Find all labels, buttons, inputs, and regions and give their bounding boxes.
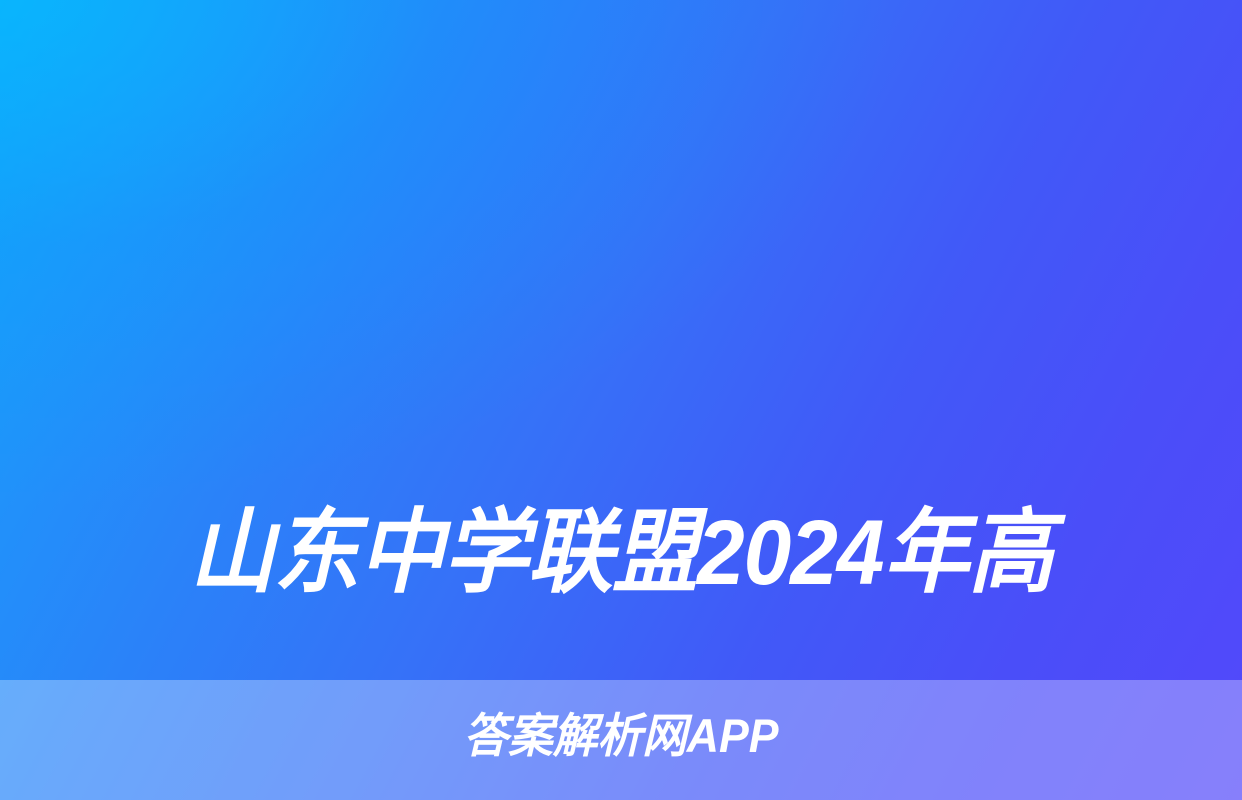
poster-canvas: 山东中学联盟2024年高 考考前热身押题(2024.5 )答案(数学) 答案解析…	[0, 0, 1242, 800]
watermark-app-name: 答案解析网APP	[31, 706, 1211, 766]
poster-title-line-1: 山东中学联盟2024年高	[133, 479, 1110, 627]
